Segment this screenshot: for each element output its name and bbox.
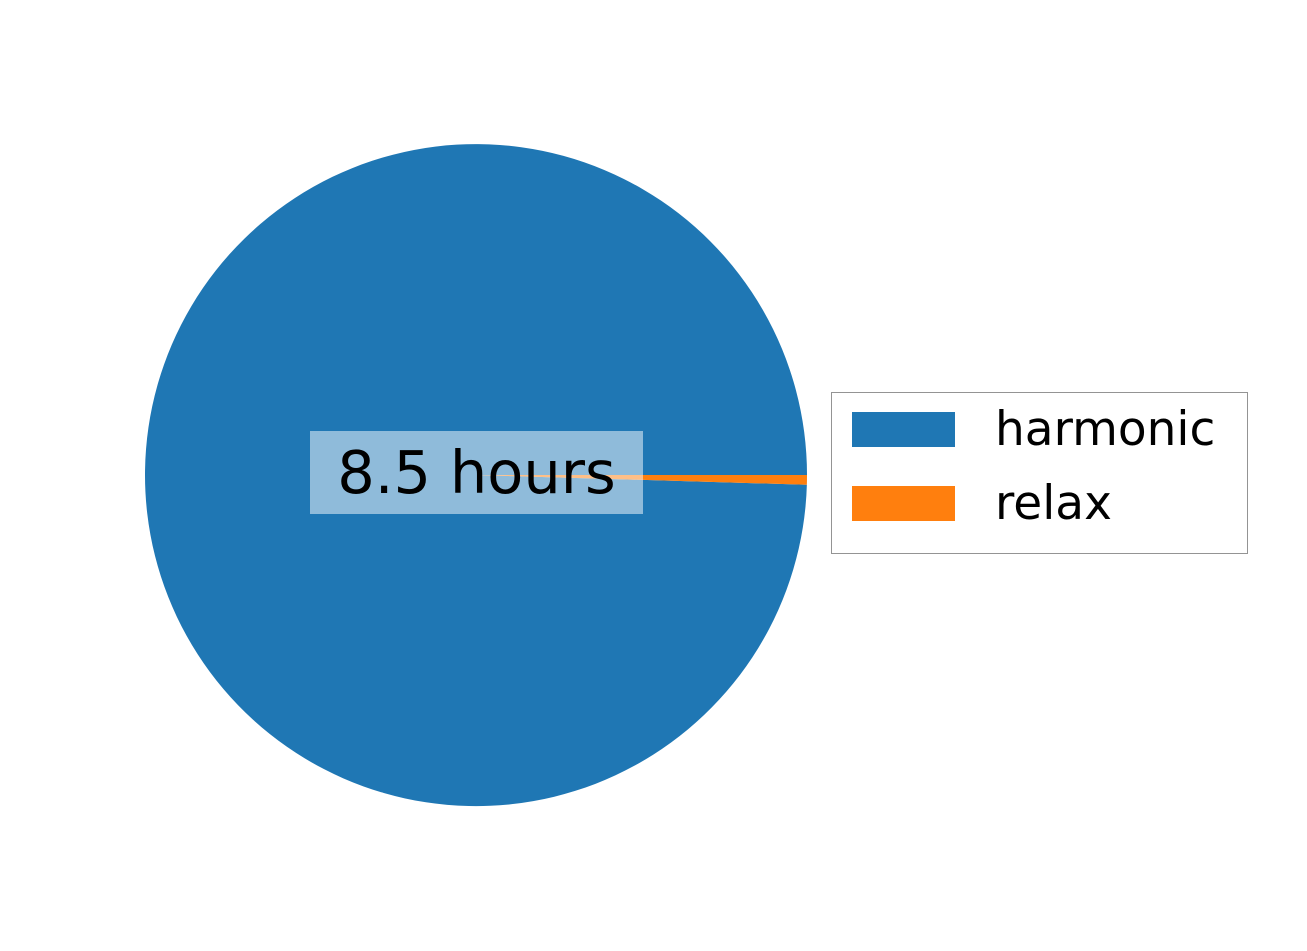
legend-swatch-relax xyxy=(852,486,955,521)
legend-label-relax: relax xyxy=(995,480,1112,527)
chart-legend: harmonic relax xyxy=(831,392,1248,554)
pie-slice-label-harmonic: 8.5 hours xyxy=(310,431,643,514)
pie-chart-figure: 8.5 hours harmonic relax xyxy=(0,0,1307,951)
legend-swatch-harmonic xyxy=(852,412,955,447)
legend-label-harmonic: harmonic xyxy=(995,406,1215,453)
legend-item-relax[interactable]: relax xyxy=(852,480,1112,527)
legend-item-harmonic[interactable]: harmonic xyxy=(852,406,1215,453)
